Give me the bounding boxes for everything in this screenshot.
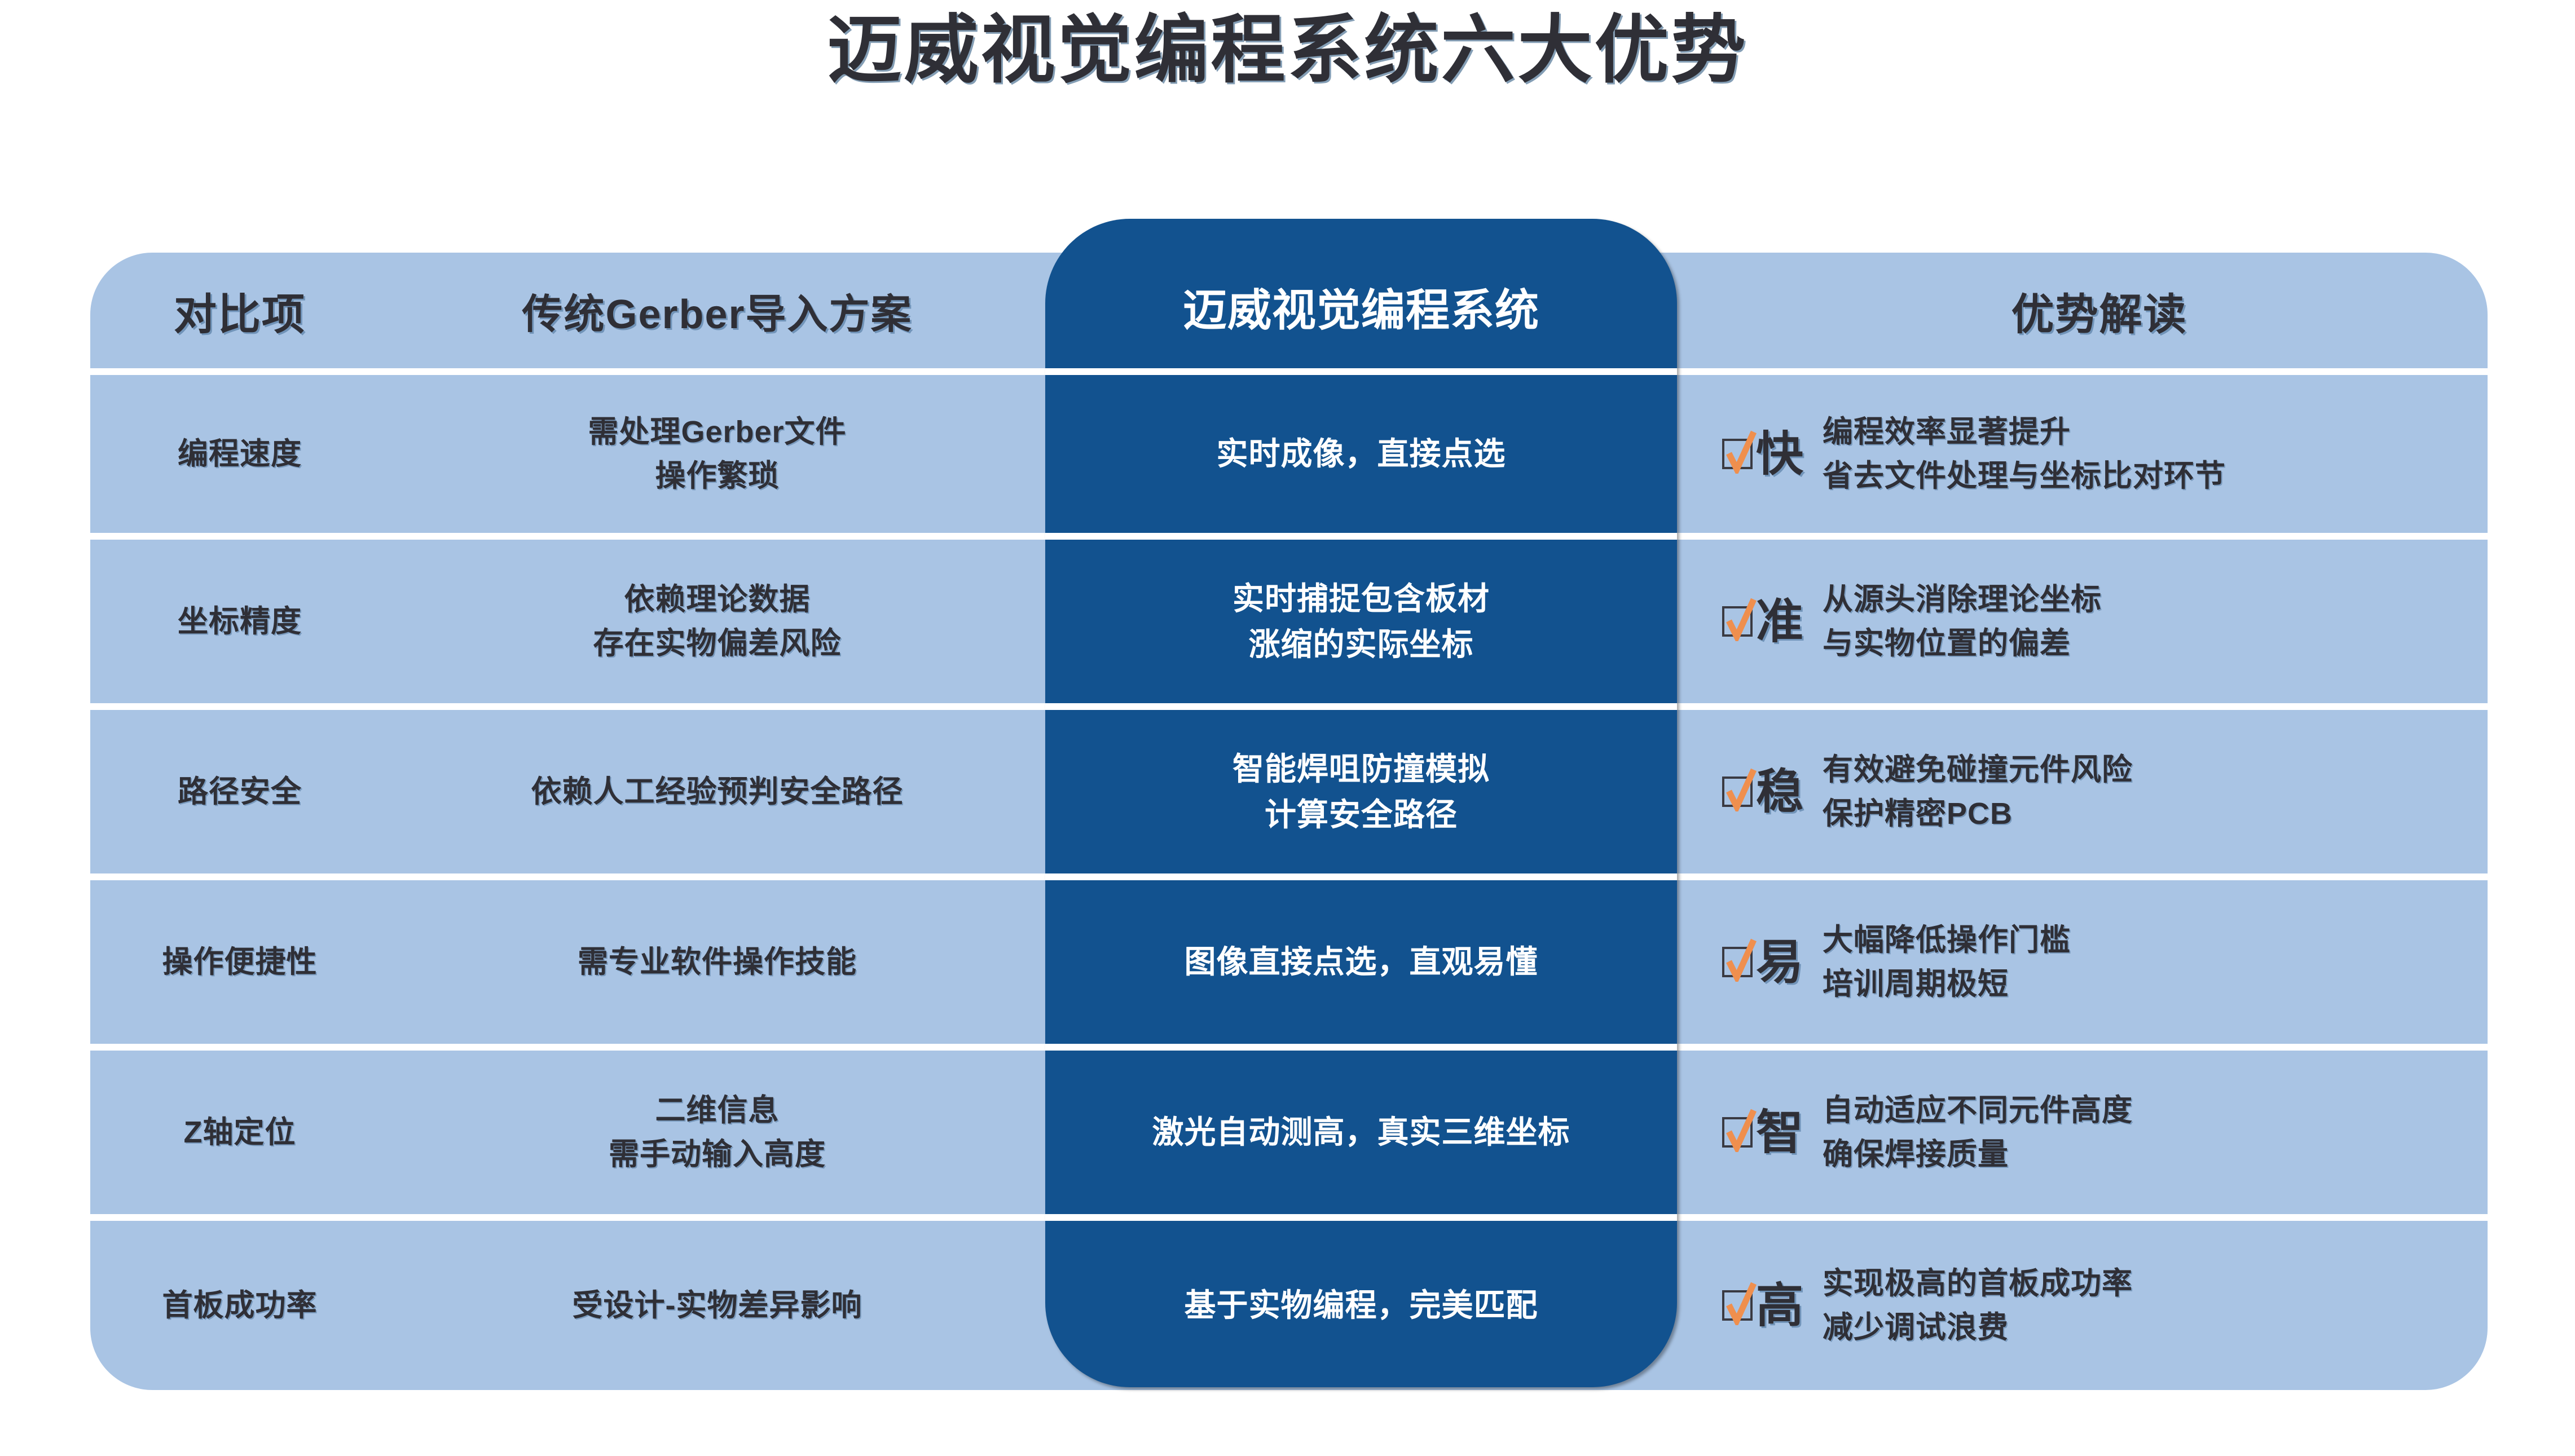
checkbox-checked-icon bbox=[1722, 947, 1753, 977]
row-benefit-cell: 稳 有效避免碰撞元件风险 保护精密PCB bbox=[1711, 748, 2488, 836]
benefit-badge: 易 bbox=[1722, 938, 1823, 986]
highlight-column: 迈威视觉编程系统 实时成像，直接点选 实时捕捉包含板材 涨缩的实际坐标 智能焊咀… bbox=[1045, 219, 1677, 1387]
checkbox-checked-icon bbox=[1722, 1117, 1753, 1148]
row-benefit-cell: 易 大幅降低操作门槛 培训周期极短 bbox=[1711, 918, 2488, 1007]
benefit-line-2: 确保焊接质量 bbox=[1823, 1132, 2133, 1176]
highlight-separator bbox=[1045, 873, 1677, 880]
row-legacy-cell: 受设计-实物差异影响 bbox=[389, 1283, 1045, 1327]
legacy-line-1: 依赖人工经验预判安全路径 bbox=[389, 770, 1045, 814]
highlight-line-1: 实时捕捉包含板材 bbox=[1233, 576, 1490, 621]
legacy-line-2: 存在实物偏差风险 bbox=[389, 621, 1045, 665]
benefit-line-2: 减少调试浪费 bbox=[1823, 1305, 2133, 1349]
row-item-cell: 路径安全 bbox=[90, 770, 389, 814]
header-cell-item: 对比项 bbox=[90, 280, 389, 342]
infographic-page: 迈威视觉编程系统六大优势 对比项 传统Gerber导入方案 优势解读 编程速度 … bbox=[0, 0, 2575, 1456]
benefit-badge: 稳 bbox=[1722, 768, 1823, 815]
benefit-badge: 准 bbox=[1722, 598, 1823, 645]
row-benefit-cell: 高 实现极高的首板成功率 减少调试浪费 bbox=[1711, 1261, 2488, 1350]
legacy-line-1: 需处理Gerber文件 bbox=[389, 410, 1045, 454]
benefit-line-2: 培训周期极短 bbox=[1823, 962, 2071, 1006]
highlight-line-2: 涨缩的实际坐标 bbox=[1233, 621, 1490, 667]
highlight-separator bbox=[1045, 1044, 1677, 1051]
highlight-separator bbox=[1045, 533, 1677, 540]
checkbox-checked-icon bbox=[1722, 439, 1753, 469]
row-item-cell: 坐标精度 bbox=[90, 599, 389, 643]
benefit-line-2: 省去文件处理与坐标比对环节 bbox=[1823, 454, 2226, 498]
row-benefit-cell: 准 从源头消除理论坐标 与实物位置的偏差 bbox=[1711, 577, 2488, 666]
highlight-line-2: 计算安全路径 bbox=[1233, 792, 1490, 837]
legacy-line-2: 操作繁琐 bbox=[389, 454, 1045, 498]
legacy-line-1: 受设计-实物差异影响 bbox=[389, 1283, 1045, 1327]
header-benefit-label: 优势解读 bbox=[2011, 280, 2187, 342]
benefit-badge: 快 bbox=[1722, 430, 1823, 478]
header-legacy-label: 传统Gerber导入方案 bbox=[522, 292, 912, 337]
page-title: 迈威视觉编程系统六大优势 bbox=[0, 3, 2575, 96]
benefit-line-1: 有效避免碰撞元件风险 bbox=[1823, 748, 2133, 792]
row-legacy-cell: 需专业软件操作技能 bbox=[389, 940, 1045, 984]
row-benefit-cell: 快 编程效率显著提升 省去文件处理与坐标比对环节 bbox=[1711, 410, 2488, 498]
checkbox-checked-icon bbox=[1722, 606, 1753, 637]
legacy-line-1: 需专业软件操作技能 bbox=[389, 940, 1045, 984]
benefit-line-1: 大幅降低操作门槛 bbox=[1823, 918, 2071, 962]
highlight-cell: 激光自动测高，真实三维坐标 bbox=[1045, 1051, 1677, 1214]
highlight-header: 迈威视觉编程系统 bbox=[1045, 253, 1677, 368]
benefit-badge: 智 bbox=[1722, 1109, 1823, 1156]
benefit-description: 自动适应不同元件高度 确保焊接质量 bbox=[1823, 1088, 2133, 1177]
highlight-cell: 实时捕捉包含板材 涨缩的实际坐标 bbox=[1045, 540, 1677, 703]
benefit-description: 编程效率显著提升 省去文件处理与坐标比对环节 bbox=[1823, 410, 2226, 498]
benefit-line-1: 从源头消除理论坐标 bbox=[1823, 577, 2102, 621]
highlight-separator bbox=[1045, 368, 1677, 375]
row-item-label: 操作便捷性 bbox=[162, 945, 318, 979]
row-item-cell: Z轴定位 bbox=[90, 1110, 389, 1154]
row-item-cell: 首板成功率 bbox=[90, 1283, 389, 1327]
benefit-line-2: 与实物位置的偏差 bbox=[1823, 621, 2102, 665]
row-item-cell: 操作便捷性 bbox=[90, 940, 389, 984]
row-item-label: 坐标精度 bbox=[178, 605, 302, 638]
highlight-cell: 图像直接点选，直观易懂 bbox=[1045, 880, 1677, 1044]
row-benefit-cell: 智 自动适应不同元件高度 确保焊接质量 bbox=[1711, 1088, 2488, 1177]
legacy-line-2: 需手动输入高度 bbox=[389, 1132, 1045, 1176]
checkbox-checked-icon bbox=[1722, 1290, 1753, 1321]
benefit-keyword: 易 bbox=[1756, 938, 1803, 986]
benefit-badge: 高 bbox=[1722, 1282, 1823, 1329]
row-item-label: 路径安全 bbox=[178, 775, 302, 809]
header-cell-benefit: 优势解读 bbox=[1711, 280, 2488, 342]
row-legacy-cell: 依赖人工经验预判安全路径 bbox=[389, 770, 1045, 814]
header-item-label: 对比项 bbox=[174, 291, 306, 339]
benefit-keyword: 准 bbox=[1756, 598, 1803, 645]
benefit-keyword: 快 bbox=[1756, 430, 1803, 478]
benefit-keyword: 智 bbox=[1756, 1109, 1803, 1156]
benefit-keyword: 高 bbox=[1756, 1282, 1803, 1329]
highlight-separator bbox=[1045, 703, 1677, 710]
benefit-description: 大幅降低操作门槛 培训周期极短 bbox=[1823, 918, 2071, 1007]
row-item-label: 首板成功率 bbox=[162, 1289, 318, 1322]
highlight-cell: 基于实物编程，完美匹配 bbox=[1045, 1221, 1677, 1390]
row-item-cell: 编程速度 bbox=[90, 432, 389, 476]
benefit-line-1: 实现极高的首板成功率 bbox=[1823, 1261, 2133, 1305]
highlight-cell: 实时成像，直接点选 bbox=[1045, 375, 1677, 533]
comparison-table: 对比项 传统Gerber导入方案 优势解读 编程速度 需处理Gerber文件 操… bbox=[90, 253, 2488, 1437]
highlight-line-1: 智能焊咀防撞模拟 bbox=[1233, 746, 1490, 792]
checkbox-checked-icon bbox=[1722, 776, 1753, 807]
benefit-line-1: 自动适应不同元件高度 bbox=[1823, 1088, 2133, 1132]
row-item-label: 编程速度 bbox=[178, 437, 302, 471]
benefit-line-2: 保护精密PCB bbox=[1823, 792, 2133, 836]
row-legacy-cell: 二维信息 需手动输入高度 bbox=[389, 1088, 1045, 1177]
benefit-description: 从源头消除理论坐标 与实物位置的偏差 bbox=[1823, 577, 2102, 666]
benefit-keyword: 稳 bbox=[1756, 768, 1803, 815]
row-legacy-cell: 依赖理论数据 存在实物偏差风险 bbox=[389, 577, 1045, 666]
benefit-description: 有效避免碰撞元件风险 保护精密PCB bbox=[1823, 748, 2133, 836]
highlight-cell: 智能焊咀防撞模拟 计算安全路径 bbox=[1045, 710, 1677, 873]
legacy-line-1: 依赖理论数据 bbox=[389, 577, 1045, 621]
header-cell-legacy: 传统Gerber导入方案 bbox=[389, 281, 1045, 340]
benefit-line-1: 编程效率显著提升 bbox=[1823, 410, 2226, 454]
benefit-description: 实现极高的首板成功率 减少调试浪费 bbox=[1823, 1261, 2133, 1350]
legacy-line-1: 二维信息 bbox=[389, 1088, 1045, 1132]
highlight-separator bbox=[1045, 1214, 1677, 1221]
row-item-label: Z轴定位 bbox=[184, 1115, 296, 1149]
row-legacy-cell: 需处理Gerber文件 操作繁琐 bbox=[389, 410, 1045, 498]
